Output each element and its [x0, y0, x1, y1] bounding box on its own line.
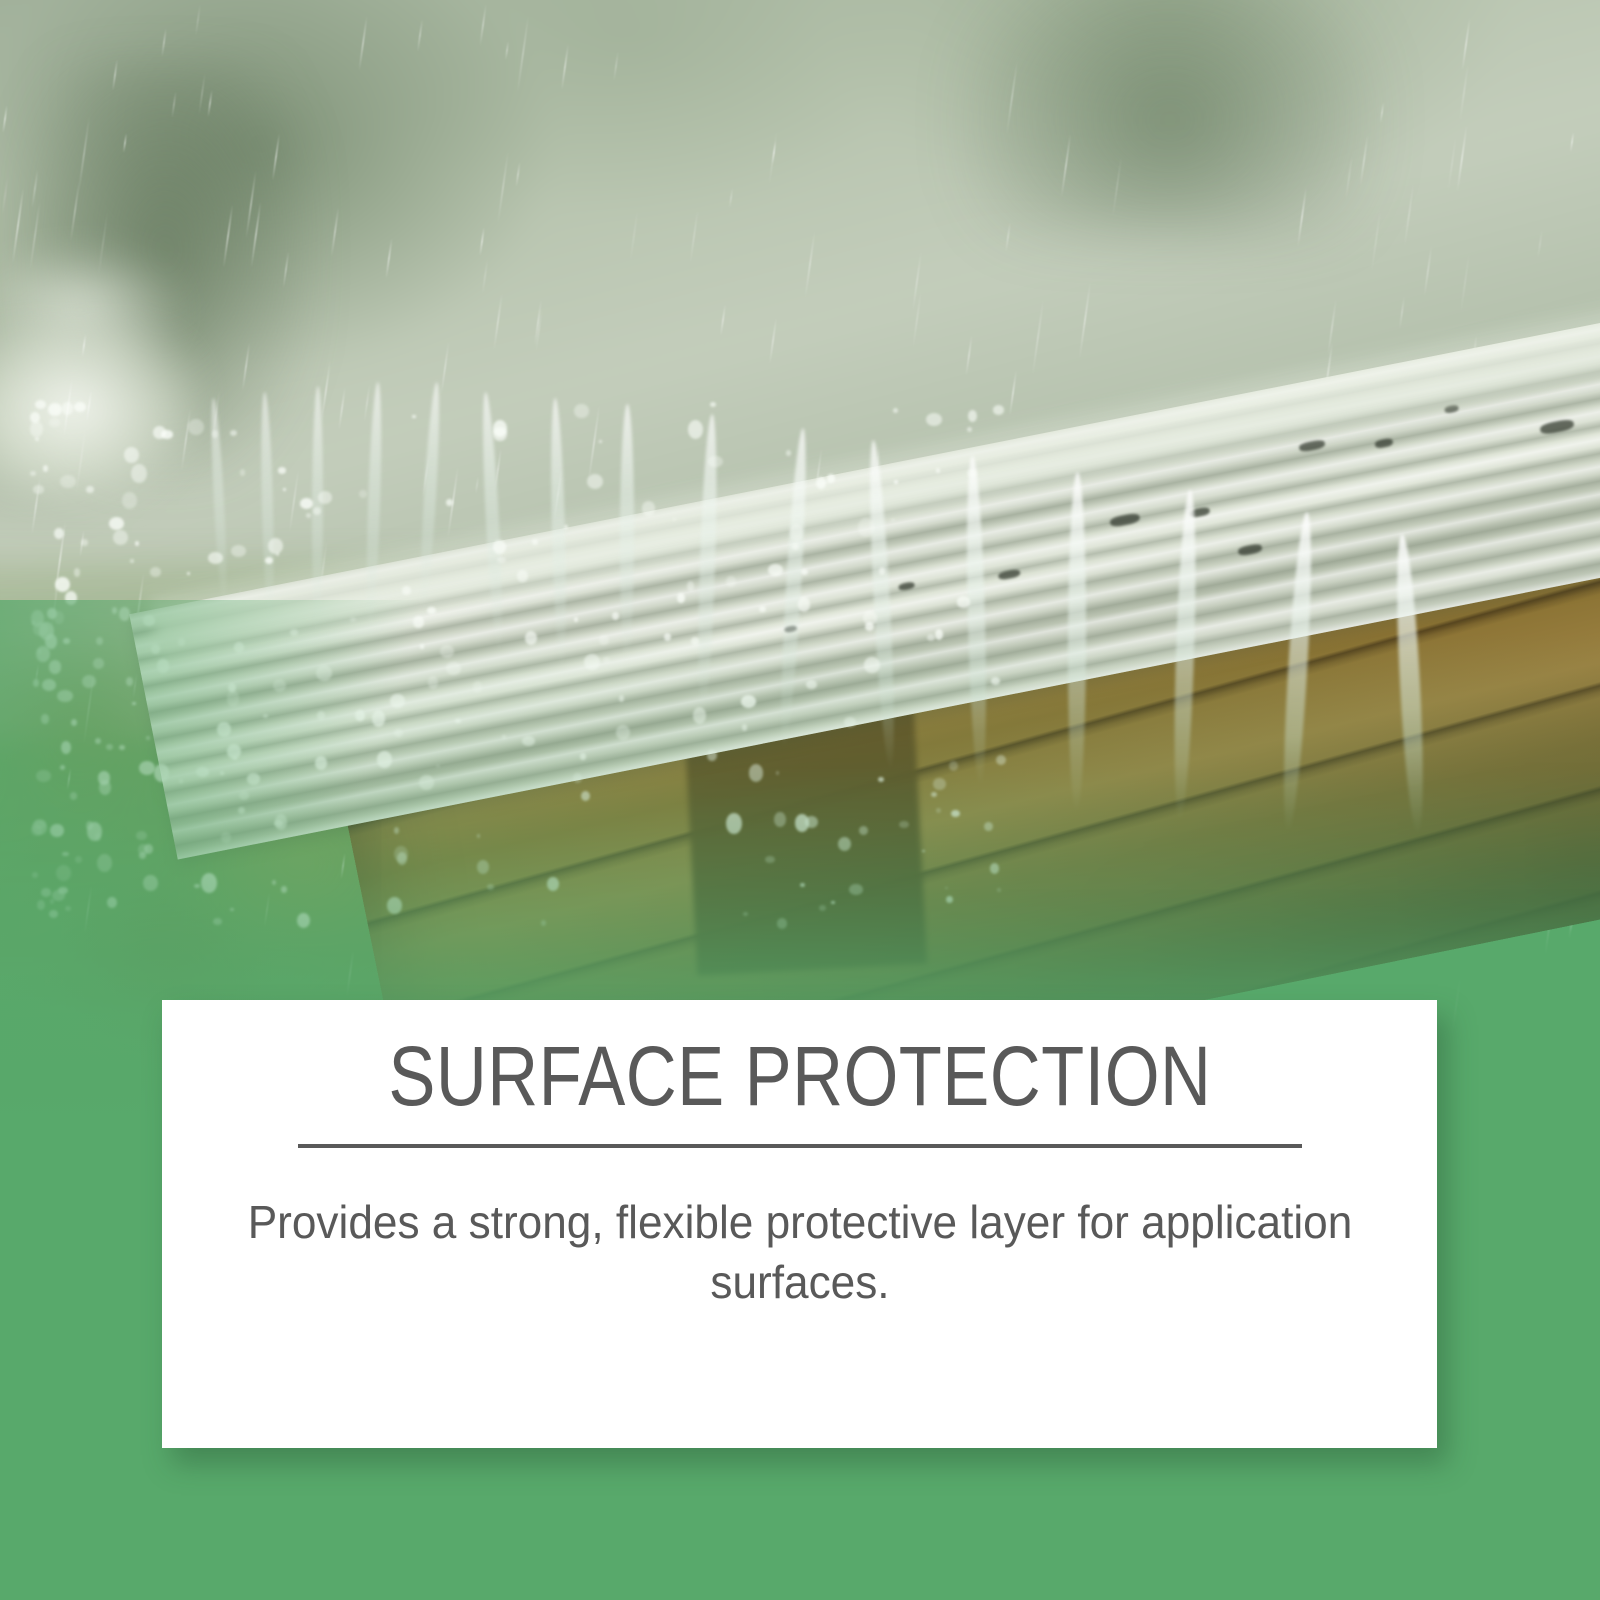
water-droplet — [412, 415, 416, 418]
water-droplet — [603, 657, 610, 663]
water-droplet — [677, 593, 685, 603]
water-droplet — [664, 633, 671, 641]
water-droplet — [107, 897, 117, 908]
water-droplet — [187, 572, 190, 574]
water-droplet — [688, 420, 703, 439]
water-droplet — [574, 404, 588, 418]
water-droplet — [397, 852, 408, 865]
water-droplet — [57, 690, 72, 702]
page-title: SURFACE PROTECTION — [388, 1034, 1211, 1120]
water-droplet — [124, 447, 139, 463]
water-droplet — [60, 475, 76, 488]
water-droplet — [990, 863, 1000, 874]
water-droplet — [946, 896, 953, 903]
water-droplet — [132, 702, 136, 705]
water-droplet — [996, 755, 1006, 765]
water-droplet — [759, 606, 765, 613]
water-droplet — [230, 430, 237, 436]
water-droplet — [899, 821, 908, 828]
water-droplet — [122, 492, 136, 509]
water-droplet — [927, 634, 935, 642]
water-droplet — [268, 538, 283, 554]
water-droplet — [130, 559, 134, 563]
water-droplet — [112, 607, 118, 614]
water-droplet — [933, 778, 945, 790]
water-droplet — [525, 631, 537, 644]
water-droplet — [227, 744, 242, 759]
water-droplet — [997, 888, 1000, 892]
water-droplet — [62, 852, 69, 857]
water-droplet — [315, 756, 327, 770]
water-droplet — [741, 695, 756, 707]
water-droplet — [816, 477, 826, 489]
water-droplet — [33, 485, 44, 493]
water-droplet — [74, 402, 86, 412]
water-droplet — [131, 464, 147, 483]
water-droplet — [893, 408, 898, 413]
water-droplet — [49, 910, 58, 918]
water-droplet — [43, 465, 48, 472]
water-droplet — [894, 480, 898, 484]
water-droplet — [710, 402, 716, 407]
water-droplet — [859, 826, 868, 835]
water-droplet — [765, 856, 775, 863]
water-droplet — [849, 884, 862, 895]
water-droplet — [228, 683, 235, 692]
water-droplet — [30, 421, 42, 437]
water-droplet — [274, 820, 282, 827]
roof-debris-fleck — [1109, 512, 1140, 528]
water-droplet — [502, 735, 506, 739]
water-droplet — [413, 616, 424, 629]
hero-photo — [0, 0, 1600, 1130]
water-droplet — [726, 813, 741, 834]
water-droplet — [838, 837, 851, 851]
water-droplet — [774, 812, 785, 827]
water-droplet — [213, 918, 221, 925]
water-droplet — [32, 872, 37, 878]
water-droplet — [786, 450, 791, 455]
water-droplet — [247, 773, 260, 784]
water-droplet — [801, 569, 808, 575]
water-droplet — [827, 474, 835, 483]
water-droplet — [547, 877, 559, 891]
water-droplet — [522, 736, 534, 746]
water-droplet — [157, 659, 168, 673]
water-droplet — [790, 524, 803, 541]
water-droplet — [957, 596, 971, 607]
water-droplet — [33, 679, 39, 686]
water-droplet — [473, 681, 483, 692]
roof-debris-fleck — [898, 581, 915, 591]
water-droplet — [455, 719, 461, 723]
water-droplet — [580, 753, 585, 759]
water-droplet — [150, 567, 162, 577]
roof-debris-fleck — [1374, 438, 1393, 449]
water-droplet — [154, 764, 169, 783]
water-droplet — [179, 779, 183, 783]
water-droplet — [263, 714, 267, 718]
water-droplet — [273, 679, 287, 692]
water-droplet — [776, 771, 779, 774]
water-droplet — [541, 920, 546, 926]
caption-card: SURFACE PROTECTION Provides a strong, fl… — [162, 1000, 1437, 1448]
water-droplet — [240, 469, 246, 476]
roof-debris-fleck — [1539, 418, 1574, 435]
water-droplet — [493, 540, 506, 553]
title-divider — [298, 1144, 1302, 1148]
water-droplet — [37, 900, 45, 910]
water-droplet — [208, 552, 223, 564]
water-droplet — [749, 764, 764, 782]
caption-card-content: SURFACE PROTECTION Provides a strong, fl… — [162, 1000, 1437, 1448]
water-droplet — [487, 884, 494, 890]
water-droplet — [109, 517, 124, 529]
water-droplet — [599, 635, 610, 645]
water-droplet — [42, 679, 56, 691]
water-droplet — [864, 657, 879, 672]
water-droplet — [878, 777, 884, 782]
caption-description: Provides a strong, flexible protective l… — [228, 1192, 1370, 1313]
water-droplet — [419, 775, 434, 790]
water-droplet — [119, 745, 125, 750]
water-droplet — [55, 577, 70, 592]
water-droplet — [74, 568, 81, 577]
water-droplet — [377, 751, 393, 768]
water-droplet — [52, 890, 65, 901]
water-droplet — [968, 410, 977, 422]
water-droplet — [372, 710, 385, 727]
water-droplet — [75, 856, 81, 862]
water-droplet — [139, 761, 155, 775]
water-droplet — [93, 658, 104, 669]
water-droplet — [143, 615, 155, 625]
water-droplet — [317, 711, 325, 719]
water-droplet — [126, 677, 133, 686]
water-droplet — [967, 427, 972, 433]
water-droplet — [41, 714, 48, 724]
water-droplet — [56, 865, 71, 881]
water-droplet — [201, 873, 217, 893]
water-droplet — [574, 617, 578, 622]
water-droplet — [290, 629, 298, 637]
water-droplet — [265, 557, 273, 563]
water-droplet — [945, 887, 948, 890]
water-droplet — [272, 880, 276, 885]
water-droplet — [798, 597, 810, 612]
water-droplet — [427, 607, 436, 614]
roof-debris-fleck — [1298, 439, 1325, 453]
water-droplet — [178, 638, 185, 645]
water-droplet — [98, 771, 110, 784]
water-droplet — [642, 501, 656, 515]
water-droplet — [493, 420, 507, 437]
water-droplet — [81, 539, 88, 546]
water-droplet — [350, 617, 356, 622]
water-droplet — [71, 719, 77, 726]
water-droplet — [517, 570, 527, 581]
water-droplet — [313, 507, 321, 515]
water-droplet — [795, 814, 809, 831]
water-droplet — [440, 645, 454, 658]
water-droplet — [316, 665, 332, 681]
water-droplet — [45, 634, 57, 649]
water-droplet — [97, 854, 112, 873]
water-droplet — [221, 832, 230, 844]
water-droplet — [278, 467, 286, 474]
water-droplet — [844, 717, 856, 727]
water-droplet — [281, 886, 288, 893]
water-droplet — [86, 486, 93, 494]
water-droplet — [153, 426, 166, 439]
water-droplet — [777, 918, 787, 928]
water-droplet — [616, 725, 630, 740]
water-droplet — [146, 736, 150, 740]
water-droplet — [65, 906, 70, 911]
water-droplet — [446, 499, 452, 506]
water-droplet — [41, 888, 51, 897]
water-droplet — [62, 402, 73, 414]
water-droplet — [151, 644, 160, 654]
water-droplet — [581, 791, 590, 801]
water-droplet — [212, 430, 218, 438]
water-droplet — [238, 807, 245, 814]
water-droplet — [926, 413, 942, 426]
water-droplet — [63, 638, 70, 643]
water-droplet — [217, 722, 230, 737]
water-droplet — [306, 513, 310, 518]
roof-debris-fleck — [1237, 543, 1262, 556]
water-droplet — [935, 629, 943, 640]
water-droplet — [387, 897, 402, 914]
water-droplet — [693, 707, 706, 724]
water-droplet — [113, 530, 128, 545]
water-droplet — [819, 905, 827, 911]
water-droplet — [993, 405, 1004, 415]
promo-graphic: SURFACE PROTECTION Provides a strong, fl… — [0, 0, 1600, 1600]
water-droplet — [991, 677, 1000, 684]
water-droplet — [707, 750, 716, 761]
water-droplet — [318, 491, 332, 504]
water-droplet — [139, 852, 146, 858]
water-droplet — [135, 541, 139, 546]
water-droplet — [768, 564, 782, 576]
water-droplet — [50, 824, 63, 837]
water-droplet — [188, 419, 204, 435]
water-droplet — [30, 471, 36, 476]
water-droplet — [95, 738, 101, 744]
roof-debris-fleck — [998, 568, 1021, 580]
water-droplet — [428, 676, 437, 688]
water-droplet — [35, 437, 39, 442]
water-droplet — [49, 660, 62, 673]
water-droplet — [587, 474, 603, 489]
water-droplet — [33, 622, 48, 636]
